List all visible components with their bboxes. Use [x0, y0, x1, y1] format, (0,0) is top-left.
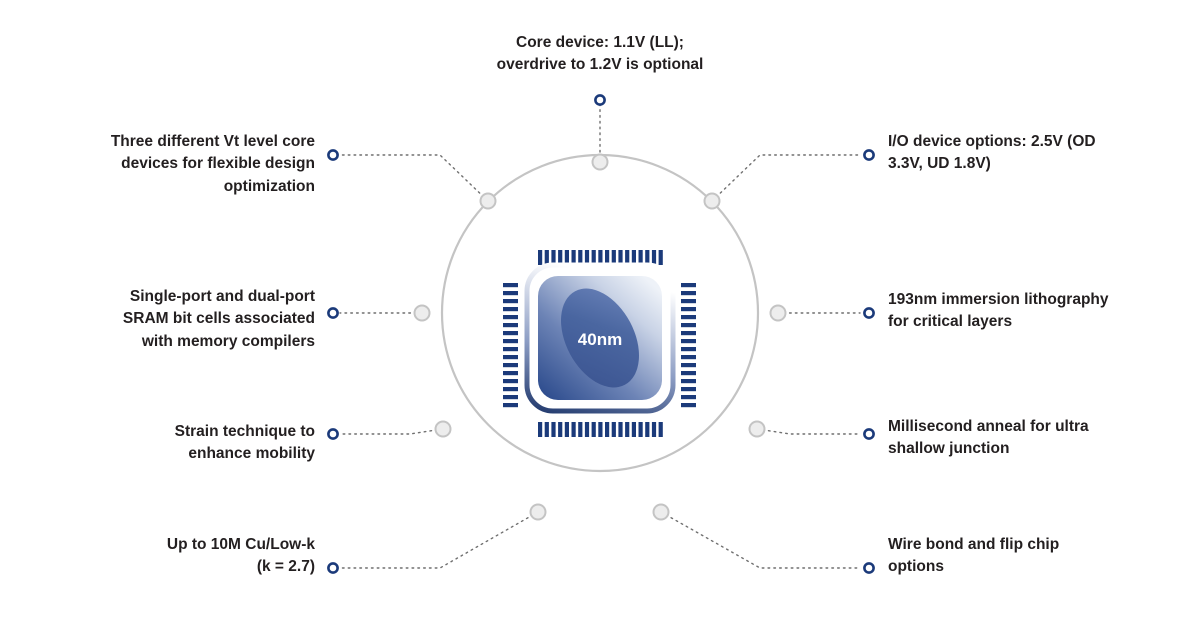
callout-sram-bit-cells[interactable]: Single-port and dual-port SRAM bit cells…: [20, 286, 315, 353]
chip-pins-right: [681, 283, 696, 407]
callout-vt-level-core-devices[interactable]: Three different Vt level core devices fo…: [20, 131, 315, 198]
chip-node-label: 40nm: [578, 330, 622, 349]
hub-node-sram-bit-cells[interactable]: [415, 306, 430, 321]
marker-ring-millisecond-anneal[interactable]: [864, 429, 873, 438]
connector-io-device-options: [712, 155, 860, 201]
callout-io-device-options[interactable]: I/O device options: 2.5V (OD 3.3V, UD 1.…: [888, 131, 1188, 176]
marker-ring-vt-level-core-devices[interactable]: [328, 150, 337, 159]
marker-ring-immersion-lithography[interactable]: [864, 308, 873, 317]
marker-ring-core-device[interactable]: [595, 95, 604, 104]
callout-core-device[interactable]: Core device: 1.1V (LL); overdrive to 1.2…: [430, 32, 770, 77]
marker-ring-strain-technique[interactable]: [328, 429, 337, 438]
chip-pins-bottom: [538, 422, 663, 437]
callout-immersion-lithography[interactable]: 193nm immersion lithography for critical…: [888, 289, 1188, 334]
callout-wire-bond-flip-chip[interactable]: Wire bond and flip chip options: [888, 534, 1188, 579]
hub-node-millisecond-anneal[interactable]: [750, 422, 765, 437]
marker-ring-cu-low-k[interactable]: [328, 563, 337, 572]
microchip-icon: 40nm: [503, 250, 696, 437]
diagram-canvas: 40nm Core device: 1.1V (LL); overdrive t…: [0, 0, 1200, 640]
callout-millisecond-anneal[interactable]: Millisecond anneal for ultra shallow jun…: [888, 416, 1188, 461]
connector-wire-bond-flip-chip: [661, 512, 860, 568]
callout-strain-technique[interactable]: Strain technique to enhance mobility: [20, 421, 315, 466]
hub-node-immersion-lithography[interactable]: [771, 306, 786, 321]
hub-node-core-device[interactable]: [593, 155, 608, 170]
hub-node-vt-level-core-devices[interactable]: [481, 194, 496, 209]
hub-node-wire-bond-flip-chip[interactable]: [654, 505, 669, 520]
chip-pins-left: [503, 283, 518, 407]
hub-node-strain-technique[interactable]: [436, 422, 451, 437]
hub-node-io-device-options[interactable]: [705, 194, 720, 209]
callout-cu-low-k[interactable]: Up to 10M Cu/Low-k (k = 2.7): [20, 534, 315, 579]
connector-vt-level-core-devices: [340, 155, 488, 201]
hub-node-cu-low-k[interactable]: [531, 505, 546, 520]
connector-millisecond-anneal: [757, 429, 860, 434]
marker-ring-wire-bond-flip-chip[interactable]: [864, 563, 873, 572]
connector-cu-low-k: [340, 512, 538, 568]
connector-strain-technique: [340, 429, 443, 434]
marker-ring-sram-bit-cells[interactable]: [328, 308, 337, 317]
marker-ring-io-device-options[interactable]: [864, 150, 873, 159]
